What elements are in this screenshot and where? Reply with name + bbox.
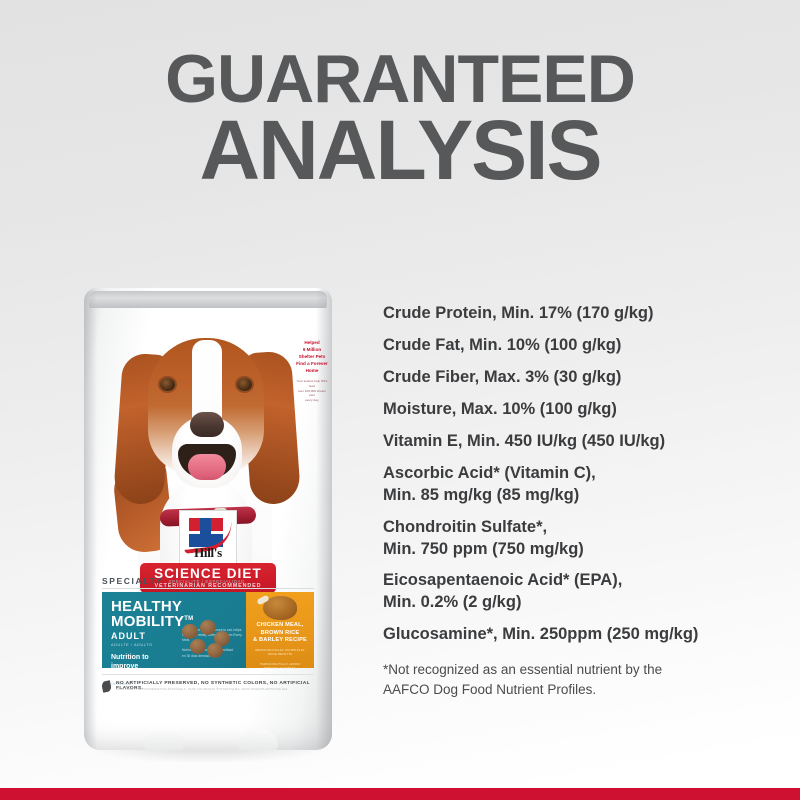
shelter-pets-headline: Helped 9 Million Shelter Pets Find a For… — [296, 340, 328, 373]
nutrient-item: Vitamin E, Min. 450 IU/kg (450 IU/kg) — [383, 431, 783, 453]
shelter-pets-subtext: Your actions help Hill's feed over 100,0… — [296, 379, 328, 402]
dog-paw-left — [144, 730, 184, 750]
leaf-icon — [101, 680, 112, 693]
dog-eye-right — [237, 378, 252, 391]
product-bag-image: Helped 9 Million Shelter Pets Find a For… — [84, 288, 332, 758]
nutrient-item: Crude Fiber, Max. 3% (30 g/kg) — [383, 367, 783, 389]
page-title-line-1: GUARANTEED — [0, 48, 800, 111]
specialty-strip: SPECIALTY SPÉCIALITÉ / ESPECIALIDAD — [102, 574, 314, 589]
nutrient-item: Eicosapentaenoic Acid* (EPA), Min. 0.2% … — [383, 570, 783, 614]
dog-tongue — [188, 454, 226, 480]
no-artificial-claim-text-alt: SANS AGENTS DE CONSERVATION ARTIFICIELS,… — [116, 688, 288, 691]
shelter-pets-note: Helped 9 Million Shelter Pets Find a For… — [296, 340, 328, 403]
product-panel-left: HEALTHY MOBILITYTM ADULT ADULTE / ADULTO… — [102, 592, 246, 668]
nutrient-item: Glucosamine*, Min. 250ppm (250 mg/kg) — [383, 624, 783, 646]
analysis-footnote: *Not recognized as an essential nutrient… — [383, 660, 783, 699]
nutrient-item: Crude Fat, Min. 10% (100 g/kg) — [383, 335, 783, 357]
recipe-badge-title: CHICKEN MEAL, BROWN RICE & BARLEY RECIPE — [250, 622, 310, 645]
page-title: GUARANTEED ANALYSIS — [0, 48, 800, 189]
bag-gusset-left — [84, 288, 97, 750]
dog-paw-right — [238, 730, 278, 750]
nutrient-item: Ascorbic Acid* (Vitamin C), Min. 85 mg/k… — [383, 463, 783, 507]
guaranteed-analysis-list: Crude Protein, Min. 17% (170 g/kg) Crude… — [383, 303, 783, 699]
page-title-line-2: ANALYSIS — [0, 111, 800, 189]
specialty-label: SPECIALTY — [102, 576, 163, 586]
no-artificial-claim-strip: NO ARTIFICIALLY PRESERVED, NO SYNTHETIC … — [102, 674, 314, 695]
bottom-accent-bar — [0, 788, 800, 800]
kibble-piece — [190, 639, 206, 654]
kibble-piece — [182, 624, 198, 639]
recipe-badge: CHICKEN MEAL, BROWN RICE & BARLEY RECIPE… — [246, 592, 314, 668]
nutrient-item: Crude Protein, Min. 17% (170 g/kg) — [383, 303, 783, 325]
nutrient-item: Chondroitin Sulfate*, Min. 750 ppm (750 … — [383, 517, 783, 561]
hills-logo-icon: Hill's — [179, 510, 237, 564]
bag-top-seal — [89, 291, 327, 308]
bag-body: Helped 9 Million Shelter Pets Find a For… — [84, 288, 332, 750]
product-name-text: HEALTHY MOBILITY — [111, 598, 184, 630]
hills-wordmark: Hill's — [180, 545, 236, 561]
kibble-piece — [200, 620, 216, 635]
chicken-drumstick-icon — [263, 596, 297, 620]
kibble-piece — [207, 643, 223, 658]
recipe-badge-subtitle: REPAS DE POULET, RIZ BRUN ET ORGE RECETT… — [250, 648, 310, 671]
nutrient-item: Moisture, Max. 10% (100 g/kg) — [383, 399, 783, 421]
specialty-label-alt: SPÉCIALITÉ / ESPECIALIDAD — [168, 579, 244, 584]
dog-eye-left — [160, 378, 175, 391]
dog-nose — [190, 412, 224, 437]
product-panel: HEALTHY MOBILITYTM ADULT ADULTE / ADULTO… — [102, 592, 314, 668]
guaranteed-analysis-page: GUARANTEED ANALYSIS — [0, 0, 800, 800]
kibble-image — [178, 620, 240, 662]
